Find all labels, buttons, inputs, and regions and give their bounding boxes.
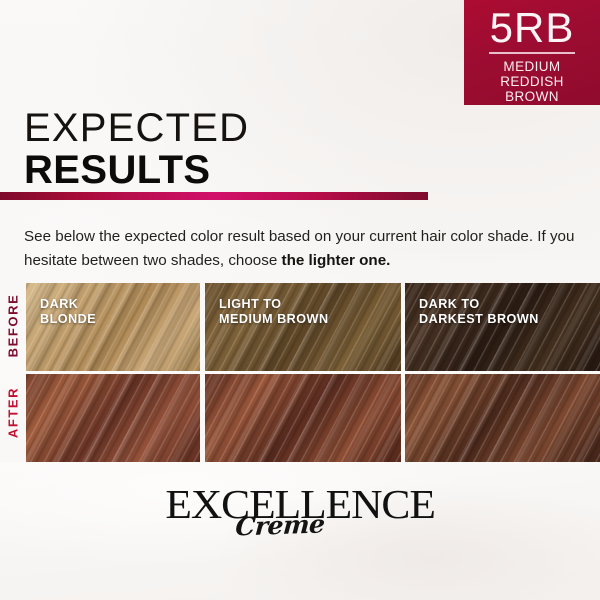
- caption-line-1: LIGHT TO: [219, 297, 282, 311]
- shade-code: 5RB: [490, 6, 575, 50]
- hair-swatch-result-1: [26, 374, 200, 462]
- before-cell-dark-blonde: DARK BLONDE: [26, 283, 200, 371]
- shade-name: MEDIUM REDDISH BROWN: [500, 59, 564, 104]
- shade-name-line-1: MEDIUM: [503, 59, 560, 74]
- page-title: EXPECTED RESULTS: [24, 106, 249, 192]
- swatch-caption-dark-to-darkest-brown: DARK TO DARKEST BROWN: [419, 297, 539, 326]
- axis-label-before: BEFORE: [6, 279, 21, 373]
- swatch-caption-dark-blonde: DARK BLONDE: [40, 297, 96, 326]
- product-shade-card: 5RB MEDIUM REDDISH BROWN EXPECTED RESULT…: [0, 0, 600, 600]
- after-row: [26, 374, 600, 462]
- title-divider: [0, 192, 428, 200]
- after-cell-1: [26, 374, 200, 462]
- intro-emphasis: the lighter one.: [282, 252, 391, 269]
- hair-swatch-result-2: [205, 374, 401, 462]
- brand-logo: EXCELLENCE Creme: [0, 484, 600, 539]
- caption-line-2: DARKEST BROWN: [419, 312, 539, 326]
- brand-logo-script: Creme: [0, 503, 562, 549]
- brand-footer: EXCELLENCE Creme: [0, 462, 600, 600]
- hair-swatch-result-3: [405, 374, 600, 462]
- page-title-line-2: RESULTS: [24, 148, 249, 192]
- grid-axis-labels: BEFORE AFTER: [0, 283, 26, 462]
- caption-line-1: DARK TO: [419, 297, 480, 311]
- before-cell-light-to-medium-brown: LIGHT TO MEDIUM BROWN: [205, 283, 401, 371]
- shade-badge: 5RB MEDIUM REDDISH BROWN: [464, 0, 600, 105]
- before-after-grid: BEFORE AFTER DARK BLONDE LIGHT TO MEDIUM…: [0, 283, 600, 462]
- caption-line-2: BLONDE: [40, 312, 96, 326]
- intro-paragraph: See below the expected color result base…: [24, 225, 576, 273]
- before-row: DARK BLONDE LIGHT TO MEDIUM BROWN DARK T…: [26, 283, 600, 371]
- caption-line-2: MEDIUM BROWN: [219, 312, 329, 326]
- swatch-caption-light-to-medium-brown: LIGHT TO MEDIUM BROWN: [219, 297, 329, 326]
- caption-line-1: DARK: [40, 297, 78, 311]
- after-cell-3: [405, 374, 600, 462]
- axis-label-after: AFTER: [6, 366, 21, 460]
- before-cell-dark-to-darkest-brown: DARK TO DARKEST BROWN: [405, 283, 600, 371]
- badge-divider-rule: [489, 52, 575, 54]
- after-cell-2: [205, 374, 401, 462]
- shade-name-line-2: REDDISH: [500, 74, 564, 89]
- shade-name-line-3: BROWN: [505, 89, 559, 104]
- page-title-line-1: EXPECTED: [24, 106, 249, 150]
